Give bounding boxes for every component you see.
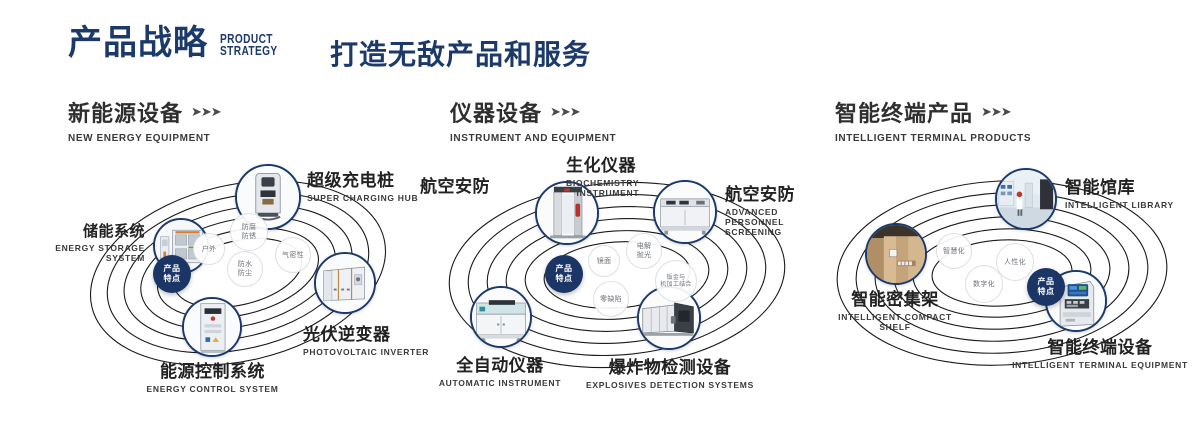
node-photovoltaic-inverter[interactable] bbox=[314, 252, 376, 314]
core-line2: 特点 bbox=[556, 274, 573, 284]
label-intelligent-library: 智能馆库 INTELLIGENT LIBRARY bbox=[1065, 173, 1174, 210]
node-label-en: ADVANCED PERSONNEL SCREENING bbox=[725, 207, 820, 237]
inverter-cabinet-icon bbox=[316, 254, 374, 312]
feature-core-product-traits: 产品 特点 bbox=[545, 255, 583, 293]
label-intelligent-terminal-equipment: 智能终端设备 INTELLIGENT TERMINAL EQUIPMENT bbox=[1000, 333, 1200, 370]
feature-core-product-traits: 产品 特点 bbox=[1027, 268, 1065, 306]
core-line2: 特点 bbox=[1038, 287, 1055, 297]
page-title-en: PRODUCT STRATEGY bbox=[220, 33, 278, 57]
core-line1: 产品 bbox=[1038, 277, 1055, 287]
node-energy-control-system[interactable] bbox=[182, 297, 242, 357]
chevron-right-icon: ➤➤➤ bbox=[550, 104, 580, 120]
node-label-en: ENERGY CONTROL SYSTEM bbox=[110, 384, 315, 394]
cluster-new-energy: 储能系统 ENERGY STORAGE SYSTEM 超级充电桩 SUPER C… bbox=[60, 155, 420, 395]
control-cabinet-icon bbox=[184, 299, 240, 355]
node-advanced-personnel-screening[interactable] bbox=[653, 180, 717, 244]
node-label-en: ENERGY STORAGE SYSTEM bbox=[10, 243, 145, 263]
label-explosives-detection-systems: 爆炸物检测设备 EXPLOSIVES DETECTION SYSTEMS bbox=[565, 353, 775, 390]
node-label-en: SUPER CHARGING HUB bbox=[307, 193, 418, 203]
node-label-cn: 能源控制系统 bbox=[110, 357, 315, 382]
node-label-cn: 航空安防 bbox=[725, 180, 820, 205]
feature-bubble-anti-corrosion: 防腐 防锈 bbox=[230, 213, 268, 251]
compact-shelf-photo bbox=[867, 225, 925, 283]
node-label-en: BIOCHEMISTRY INSTRUMENT bbox=[566, 178, 639, 198]
label-super-charging-hub: 超级充电桩 SUPER CHARGING HUB bbox=[307, 166, 418, 203]
cluster-intelligent-terminal: 智能馆库 INTELLIGENT LIBRARY 智能密集架 INTELLIG bbox=[810, 155, 1200, 395]
node-label-cn: 爆炸物检测设备 bbox=[565, 353, 775, 378]
label-intelligent-compact-shelf: 智能密集架 INTELLIGENT COMPACT SHELF bbox=[815, 285, 975, 332]
feature-bubble-mirror-finish: 镜面 bbox=[588, 245, 620, 277]
feature-bubble-zero-defect: 零缺陷 bbox=[593, 281, 629, 317]
screening-machine-icon bbox=[655, 182, 715, 242]
core-line2: 特点 bbox=[164, 274, 181, 284]
node-label-cn: 智能馆库 bbox=[1065, 173, 1174, 198]
page-title-en-line2: STRATEGY bbox=[220, 45, 278, 57]
library-interior-photo bbox=[997, 170, 1055, 228]
node-intelligent-library[interactable] bbox=[995, 168, 1057, 230]
node-label-cn: 光伏逆变器 bbox=[303, 320, 429, 345]
node-automatic-instrument[interactable] bbox=[470, 286, 532, 348]
feature-bubble-intelligent: 智慧化 bbox=[936, 233, 972, 269]
label-aviation-security: 航空安防 bbox=[420, 172, 490, 197]
page-title-cn: 产品战略 bbox=[68, 26, 208, 60]
label-energy-storage-system: 储能系统 ENERGY STORAGE SYSTEM bbox=[10, 220, 145, 263]
feature-core-product-traits: 产品 特点 bbox=[153, 255, 191, 293]
label-biochemistry-instrument: 生化仪器 BIOCHEMISTRY INSTRUMENT bbox=[566, 151, 639, 198]
feature-bubble-sheet-metal-machining: 钣金与 机加工结合 bbox=[655, 260, 697, 302]
node-label-en: INTELLIGENT TERMINAL EQUIPMENT bbox=[1000, 360, 1200, 370]
section-heading-instrument: 仪器设备 ➤➤➤ INSTRUMENT AND EQUIPMENT bbox=[450, 96, 616, 144]
poster-canvas: 产品战略 PRODUCT STRATEGY 打造无敌产品和服务 新能源设备 ➤➤… bbox=[0, 0, 1200, 422]
section-heading-cn: 仪器设备 bbox=[450, 96, 542, 128]
section-heading-en: INSTRUMENT AND EQUIPMENT bbox=[450, 133, 616, 144]
label-advanced-personnel-screening: 航空安防 ADVANCED PERSONNEL SCREENING bbox=[725, 180, 820, 237]
section-heading-cn: 新能源设备 bbox=[68, 96, 183, 128]
node-label-cn: 航空安防 bbox=[420, 172, 490, 197]
chevron-right-icon: ➤➤➤ bbox=[191, 104, 221, 120]
section-heading-en: INTELLIGENT TERMINAL PRODUCTS bbox=[835, 133, 1031, 144]
node-label-en: INTELLIGENT LIBRARY bbox=[1065, 200, 1174, 210]
feature-bubble-waterproof-dustproof: 防水 防尘 bbox=[227, 251, 263, 287]
feature-bubble-airtightness: 气密性 bbox=[275, 237, 311, 273]
node-label-cn: 生化仪器 bbox=[566, 151, 639, 176]
cluster-instrument: 生化仪器 BIOCHEMISTRY INSTRUMENT 航空安防 航空安防 A… bbox=[420, 155, 820, 395]
node-label-cn: 储能系统 bbox=[10, 220, 145, 241]
core-line1: 产品 bbox=[556, 264, 573, 274]
label-energy-control-system: 能源控制系统 ENERGY CONTROL SYSTEM bbox=[110, 357, 315, 394]
page-slogan: 打造无敌产品和服务 bbox=[330, 33, 591, 73]
feature-bubble-outdoor: 户外 bbox=[193, 233, 225, 265]
section-heading-en: NEW ENERGY EQUIPMENT bbox=[68, 133, 221, 144]
node-label-en: EXPLOSIVES DETECTION SYSTEMS bbox=[565, 380, 775, 390]
node-label-cn: 智能终端设备 bbox=[1000, 333, 1200, 358]
node-intelligent-compact-shelf[interactable] bbox=[865, 223, 927, 285]
node-label-en: INTELLIGENT COMPACT SHELF bbox=[815, 312, 975, 332]
node-label-cn: 智能密集架 bbox=[815, 285, 975, 310]
node-label-cn: 超级充电桩 bbox=[307, 166, 418, 191]
page-title: 产品战略 PRODUCT STRATEGY bbox=[68, 26, 294, 60]
automatic-analyzer-icon bbox=[472, 288, 530, 346]
section-heading-cn: 智能终端产品 bbox=[835, 96, 973, 128]
chevron-right-icon: ➤➤➤ bbox=[981, 104, 1011, 120]
section-heading-intelligent-terminal: 智能终端产品 ➤➤➤ INTELLIGENT TERMINAL PRODUCTS bbox=[835, 96, 1031, 144]
section-heading-new-energy: 新能源设备 ➤➤➤ NEW ENERGY EQUIPMENT bbox=[68, 96, 221, 144]
feature-bubble-electropolishing: 电解 抛光 bbox=[626, 233, 662, 269]
feature-bubble-humanized: 人性化 bbox=[996, 243, 1034, 281]
core-line1: 产品 bbox=[164, 264, 181, 274]
